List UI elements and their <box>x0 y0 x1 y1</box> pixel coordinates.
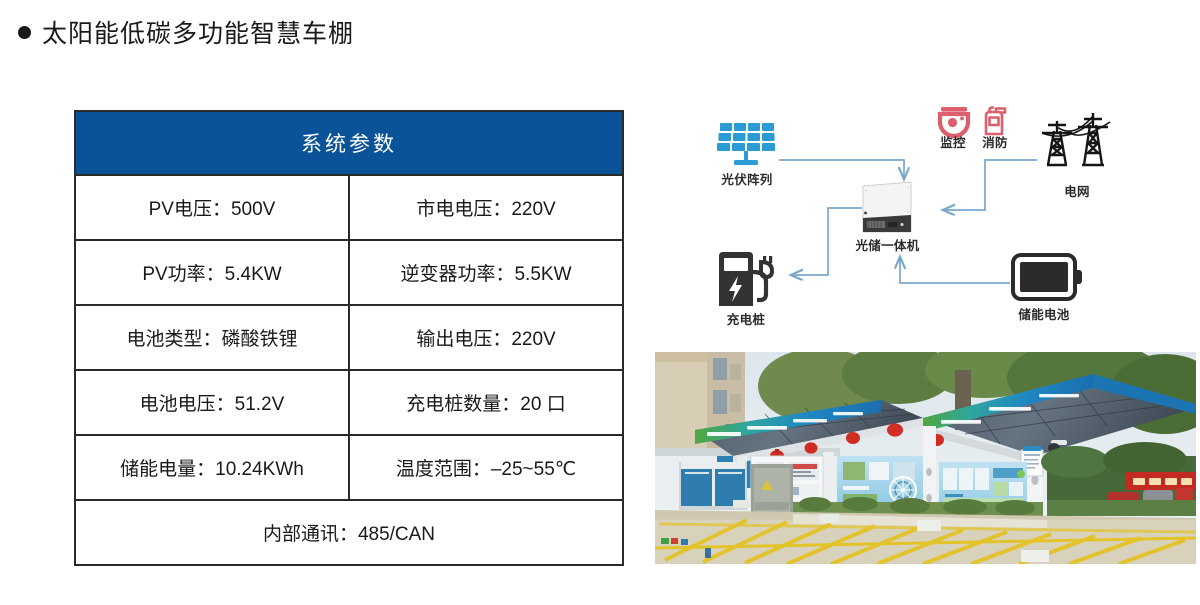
table-row: 储能电量：10.24KWh 温度范围：–25~55℃ <box>75 435 623 500</box>
param-cell-temperature-range: 温度范围：–25~55℃ <box>349 435 623 500</box>
solar-panel-icon <box>717 123 775 165</box>
diagram-label-pv-array: 光伏阵列 <box>712 169 782 188</box>
page-title-label: 太阳能低碳多功能智慧车棚 <box>42 14 354 50</box>
table-row: PV电压：500V 市电电压：220V <box>75 175 623 240</box>
param-cell-battery-type: 电池类型：磷酸铁锂 <box>75 305 349 370</box>
battery-icon <box>1013 255 1082 299</box>
param-cell-charger-count: 充电桩数量：20 口 <box>349 370 623 435</box>
diagram-label-grid: 电网 <box>1050 181 1104 200</box>
hybrid-inverter-icon <box>863 182 911 232</box>
solar-carport-photo <box>655 352 1196 564</box>
table-row: 内部通讯：485/CAN <box>75 500 623 565</box>
param-cell-storage-capacity: 储能电量：10.24KWh <box>75 435 349 500</box>
param-cell-battery-voltage: 电池电压：51.2V <box>75 370 349 435</box>
param-cell-pv-power: PV功率：5.4KW <box>75 240 349 305</box>
table-row: 电池类型：磷酸铁锂 输出电压：220V <box>75 305 623 370</box>
param-cell-pv-voltage: PV电压：500V <box>75 175 349 240</box>
ev-charger-icon <box>719 252 772 306</box>
param-cell-grid-voltage: 市电电压：220V <box>349 175 623 240</box>
filled-circle-bullet-icon <box>18 26 31 39</box>
param-cell-internal-comms: 内部通讯：485/CAN <box>75 500 623 565</box>
table-header-title: 系统参数 <box>75 111 623 175</box>
page-title: 太阳能低碳多功能智慧车棚 <box>18 14 354 50</box>
fire-extinguisher-icon <box>986 108 1005 135</box>
diagram-label-fire: 消防 <box>975 132 1015 151</box>
table-row: PV功率：5.4KW 逆变器功率：5.5KW <box>75 240 623 305</box>
diagram-label-battery: 储能电池 <box>1011 304 1077 323</box>
system-parameters-table: 系统参数 PV电压：500V 市电电压：220V PV功率：5.4KW 逆变器功… <box>74 110 624 566</box>
table-header-row: 系统参数 <box>75 111 623 175</box>
power-tower-icon <box>1042 113 1110 165</box>
table-row: 电池电压：51.2V 充电桩数量：20 口 <box>75 370 623 435</box>
diagram-label-monitoring: 监控 <box>933 132 973 151</box>
diagram-label-inverter: 光储一体机 <box>845 235 930 254</box>
param-cell-output-voltage: 输出电压：220V <box>349 305 623 370</box>
diagram-label-charger: 充电桩 <box>713 309 779 328</box>
param-cell-inverter-power: 逆变器功率：5.5KW <box>349 240 623 305</box>
system-architecture-diagram: 光伏阵列 监控 消防 电网 光储一体机 充电桩 储能电池 <box>655 105 1195 345</box>
